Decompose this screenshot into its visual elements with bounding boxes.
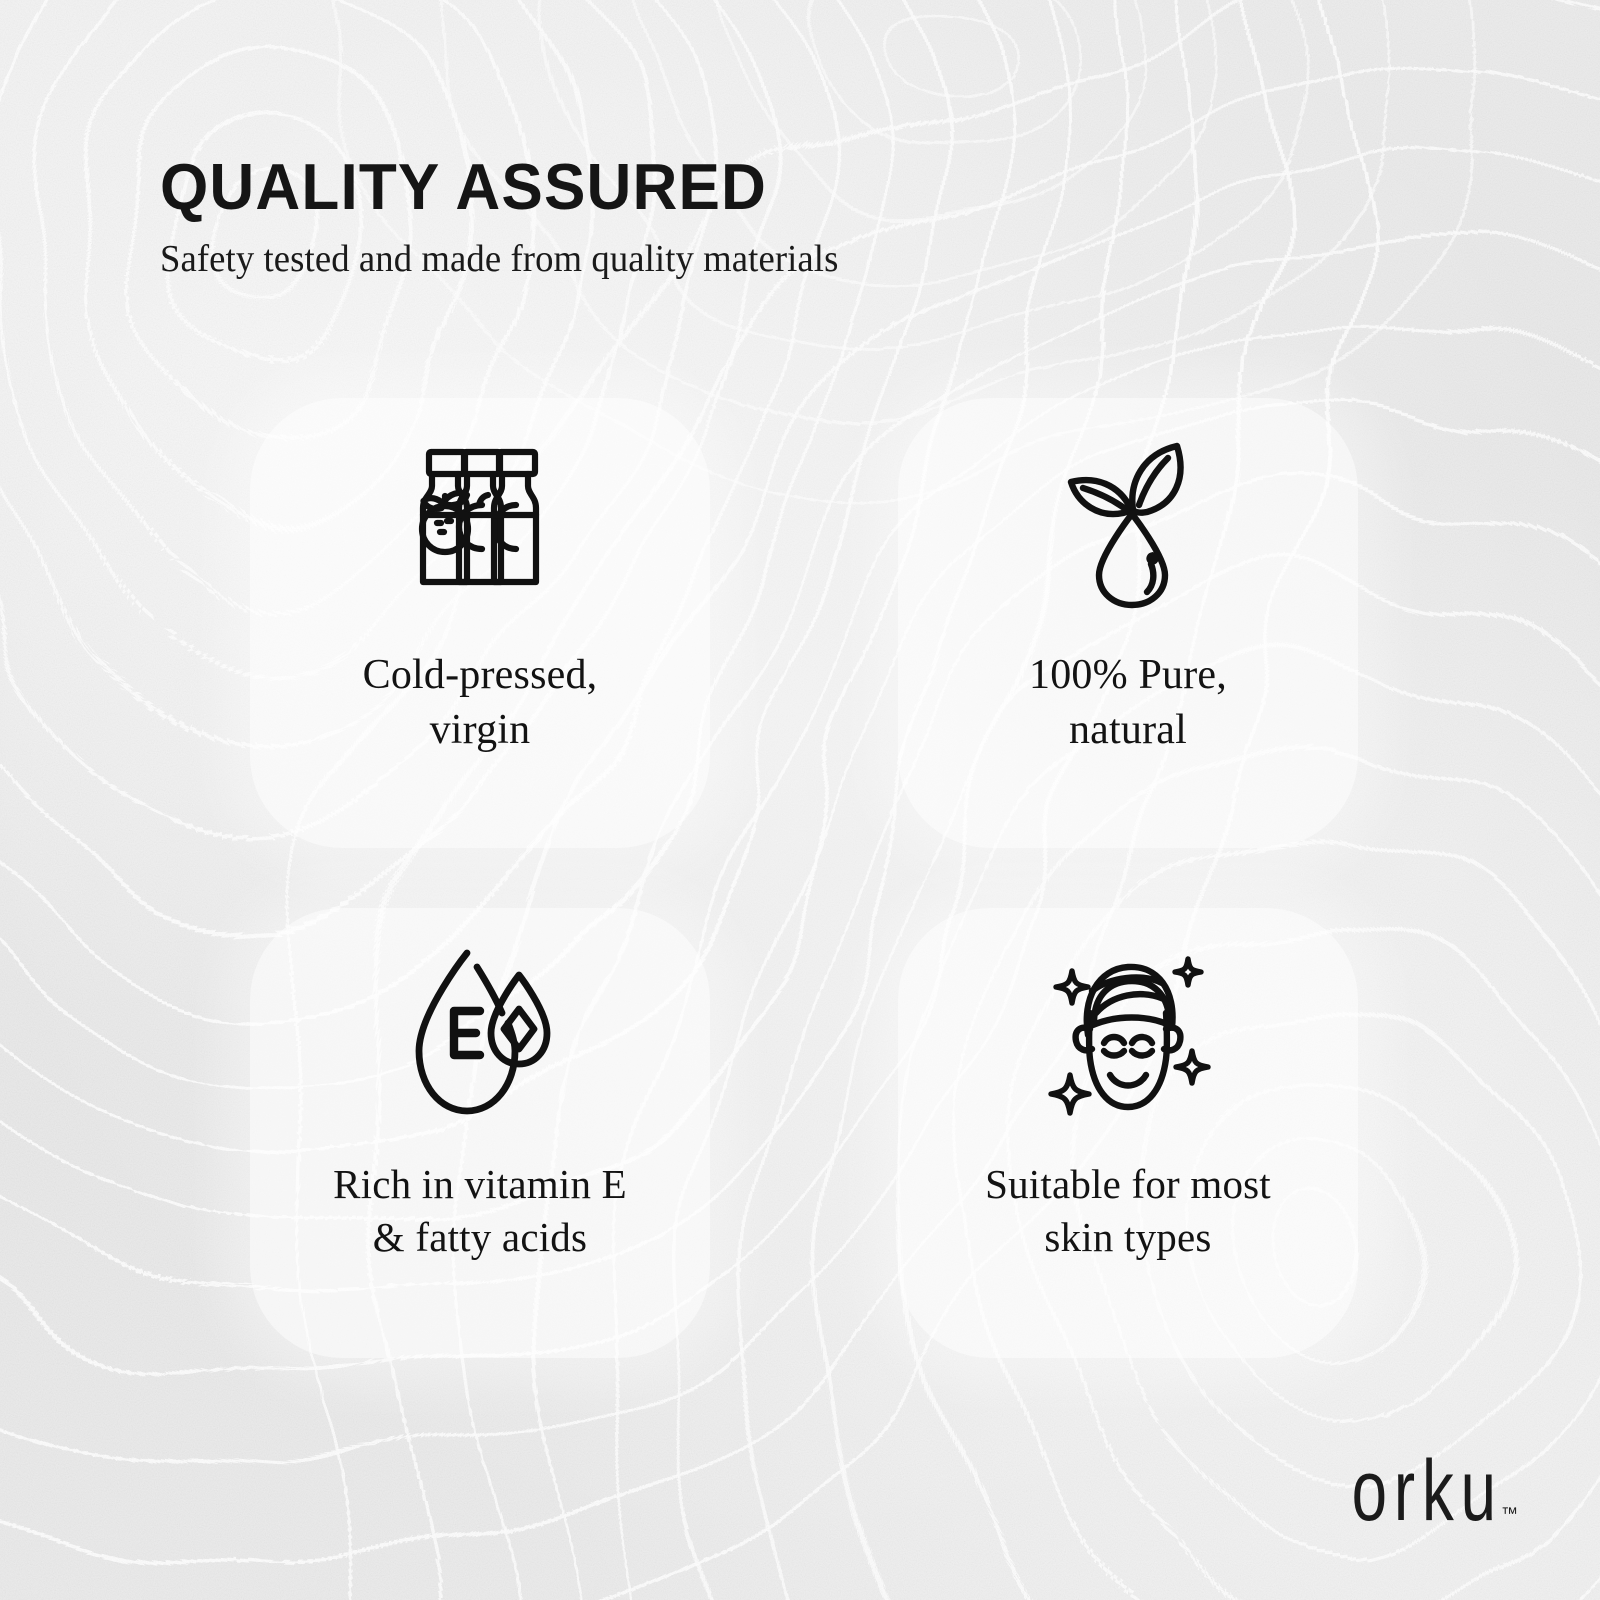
- feature-card-label: 100% Pure, natural: [1011, 648, 1245, 757]
- feature-card-label: Rich in vitamin E & fatty acids: [315, 1158, 645, 1265]
- poster-canvas: QUALITY ASSURED Safety tested and made f…: [0, 0, 1600, 1600]
- brand-logo: orku ™: [1327, 1464, 1518, 1528]
- trademark-symbol: ™: [1501, 1505, 1518, 1528]
- feature-card-pure-natural[interactable]: 100% Pure, natural: [898, 398, 1358, 848]
- feature-card-skin-types[interactable]: Suitable for most skin types: [898, 908, 1358, 1358]
- feature-card-cold-pressed[interactable]: Cold-pressed, virgin: [250, 398, 710, 848]
- feature-card-label: Suitable for most skin types: [967, 1158, 1289, 1265]
- header-block: QUALITY ASSURED Safety tested and made f…: [160, 154, 1320, 281]
- page-subtitle: Safety tested and made from quality mate…: [160, 219, 1279, 281]
- smiling-face-sparkles-icon: [898, 908, 1358, 1158]
- page-title: QUALITY ASSURED: [160, 154, 1268, 219]
- feature-card-vitamin-e[interactable]: Rich in vitamin E & fatty acids: [250, 908, 710, 1358]
- vitamin-e-droplet-icon: [250, 908, 710, 1158]
- brand-logo-wordmark: orku: [1352, 1454, 1503, 1528]
- leaf-droplet-icon: [898, 398, 1358, 648]
- feature-card-grid: Cold-pressed, virgin 100% Pure, natu: [250, 398, 1358, 1358]
- jars-with-fruit-icon: [250, 398, 710, 648]
- feature-card-label: Cold-pressed, virgin: [345, 648, 616, 757]
